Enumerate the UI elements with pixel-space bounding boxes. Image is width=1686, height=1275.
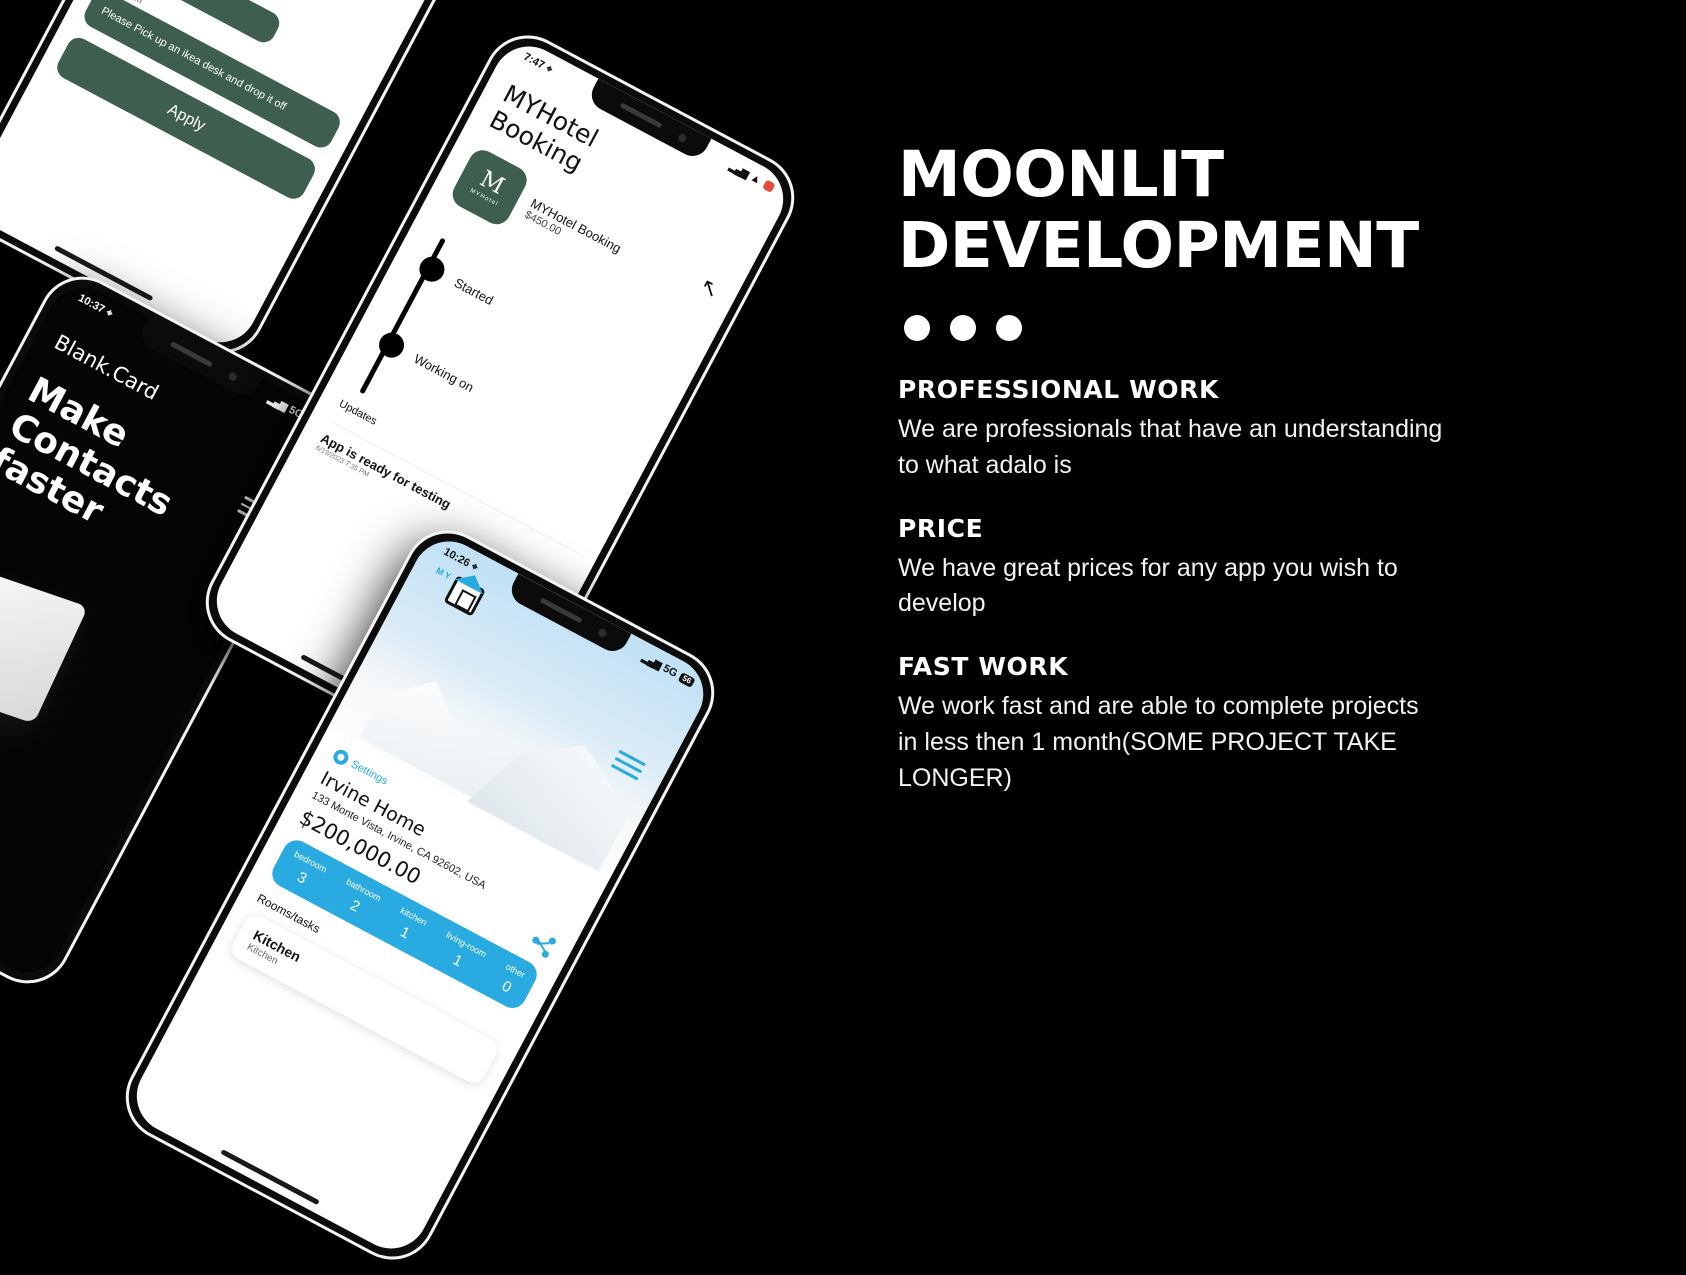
- front-camera: [597, 628, 608, 639]
- location-arrow-icon: ⌖: [469, 560, 481, 574]
- location-arrow-icon: ⌖: [543, 62, 555, 76]
- card-graphic: [0, 542, 88, 724]
- feature-fast-work: FAST WORK We work fast and are able to c…: [898, 652, 1443, 796]
- decoration-dot-icon: [950, 315, 976, 341]
- decoration-dot-icon: [996, 315, 1022, 341]
- signal-bars-icon: ▂▄▆: [728, 161, 750, 180]
- location-arrow-icon: ⌖: [103, 306, 115, 320]
- stat-value: 0: [494, 975, 520, 1000]
- stat-bathroom: bathroom 2: [334, 877, 383, 923]
- timeline-dot-icon: [415, 252, 449, 286]
- front-camera: [227, 371, 238, 382]
- status-network: 5G: [661, 662, 680, 679]
- feature-body: We are professionals that have an unders…: [898, 412, 1443, 484]
- wifi-icon: ▲: [748, 172, 763, 187]
- timeline-dot-icon: [375, 328, 409, 362]
- myhotel-logo-icon: M MYHotel: [448, 145, 532, 229]
- blank-card-tagline: Make Contacts faster: [0, 371, 252, 589]
- stat-living-room: living-room 1: [434, 930, 488, 979]
- feature-heading: FAST WORK: [898, 652, 1443, 681]
- phone-mockup-stage: Joe Tell [Location] Dilever furniture fr…: [0, 0, 830, 992]
- battery-icon: 56: [678, 672, 696, 688]
- dots-decoration: [904, 315, 1618, 341]
- status-time: 7:47: [521, 51, 546, 72]
- share-icon[interactable]: [527, 929, 557, 959]
- stat-bedroom: bedroom 3: [282, 849, 328, 894]
- marketing-panel: MOONLIT DEVELOPMENT PROFESSIONAL WORK We…: [898, 140, 1618, 826]
- feature-price: PRICE We have great prices for any app y…: [898, 514, 1443, 623]
- feature-heading: PROFESSIONAL WORK: [898, 375, 1443, 404]
- signal-bars-icon: ▂▄▆: [640, 652, 662, 671]
- battery-icon: [762, 179, 776, 193]
- decoration-dot-icon: [904, 315, 930, 341]
- front-camera: [677, 133, 688, 144]
- timeline-step-label: Working on: [411, 351, 476, 395]
- stat-kitchen: kitchen 1: [388, 905, 428, 947]
- feature-heading: PRICE: [898, 514, 1443, 543]
- gig-details: $80.00 - $100.00 Total Furniture House E…: [39, 0, 443, 211]
- timeline-step-label: Started: [452, 275, 496, 308]
- feature-body: We have great prices for any app you wis…: [898, 551, 1443, 623]
- home-indicator: [220, 1149, 319, 1205]
- feature-body: We work fast and are able to complete pr…: [898, 689, 1443, 796]
- page-title: MOONLIT DEVELOPMENT: [898, 140, 1618, 281]
- feature-professional-work: PROFESSIONAL WORK We are professionals t…: [898, 375, 1443, 484]
- stat-other: other 0: [494, 961, 527, 999]
- project-meta: MYHotel Booking $450.00: [522, 196, 623, 267]
- signal-bars-icon: ▂▄▆: [266, 393, 288, 412]
- gear-icon: [331, 747, 351, 767]
